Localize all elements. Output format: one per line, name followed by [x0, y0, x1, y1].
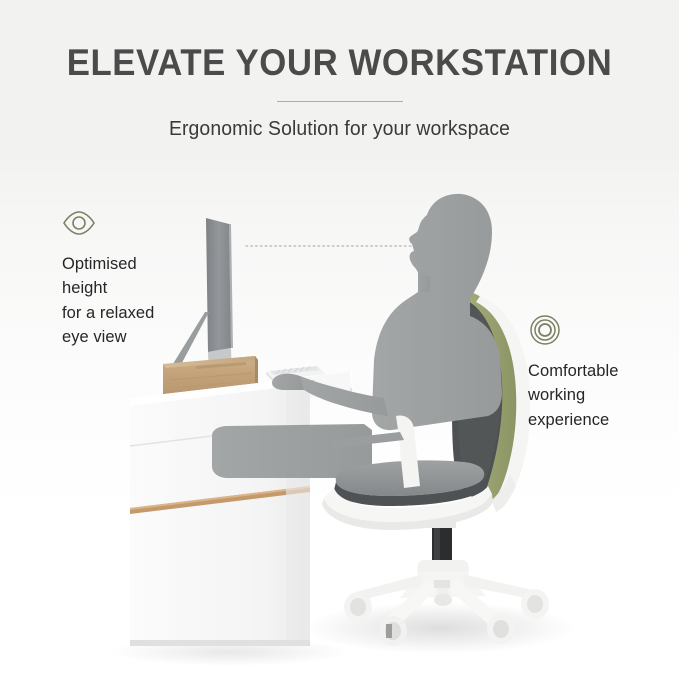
- feature-callout-comfortable-working: Comfortable working experience: [528, 313, 668, 432]
- feature-label-comfortable-working: Comfortable working experience: [528, 359, 668, 432]
- base-hub: [417, 560, 469, 574]
- poster-canvas: ELEVATE YOUR WORKSTATION Ergonomic Solut…: [0, 0, 679, 679]
- eye-icon: [62, 206, 96, 240]
- feature-label-optimised-height: Optimised height for a relaxed eye view: [62, 252, 212, 350]
- concentric-circles-icon: [528, 313, 562, 347]
- feature-callout-optimised-height: Optimised height for a relaxed eye view: [62, 206, 212, 350]
